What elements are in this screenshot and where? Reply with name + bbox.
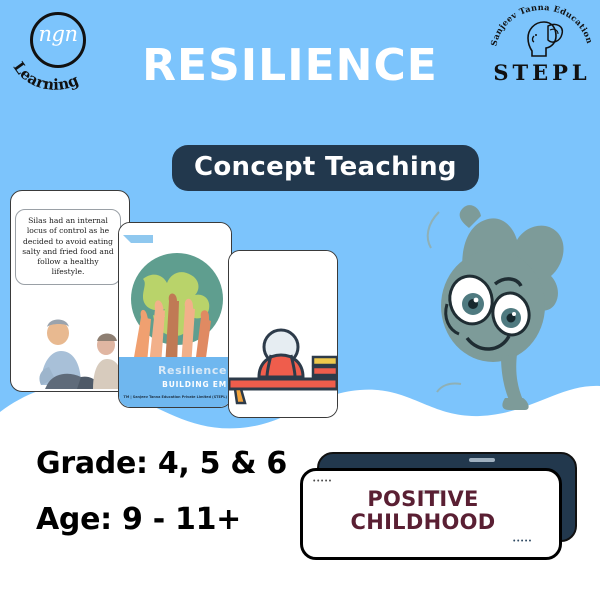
age-label: Age: 9 - 11+ xyxy=(36,502,241,537)
seated-person-illustration xyxy=(11,311,129,391)
stepl-logo: Sanjeev Tanna Education STEPL xyxy=(490,4,594,90)
grade-label: Grade: 4, 5 & 6 xyxy=(36,446,287,481)
scenario-text: Silas had an internal locus of control a… xyxy=(15,209,121,285)
ngn-learning-logo: ngn Learning xyxy=(8,6,100,90)
program-card-text: POSITIVE CHILDHOOD xyxy=(295,468,551,554)
workbook-cover-card: Resilience BUILDING EM TM | Sanjeev Tann… xyxy=(118,222,232,408)
cover-title: Resilience xyxy=(119,364,231,377)
scenario-card: Silas had an internal locus of control a… xyxy=(10,190,130,392)
activity-card xyxy=(228,250,338,418)
head-profile-icon xyxy=(520,18,566,58)
cover-subtitle: BUILDING EM xyxy=(119,380,231,389)
program-card: ••••• ••••• POSITIVE CHILDHOOD xyxy=(295,452,575,560)
cover-fine-print: TM | Sanjeev Tanna Education Private Lim… xyxy=(119,395,231,399)
program-line-2: CHILDHOOD xyxy=(350,511,495,534)
student-at-desk-with-books-illustration xyxy=(229,251,337,417)
learning-curved-text: Learning xyxy=(8,50,100,94)
handstand-creature-mascot xyxy=(405,178,595,418)
back-card-notch xyxy=(469,458,495,462)
svg-text:Learning: Learning xyxy=(10,58,82,94)
ngn-wordmark: ngn xyxy=(30,24,86,45)
program-line-1: POSITIVE xyxy=(350,488,495,511)
page-title: RESILIENCE xyxy=(120,44,460,88)
stepl-wordmark: STEPL xyxy=(490,60,594,85)
poster-root: ngn Learning Sanjeev Tanna Education xyxy=(0,0,600,600)
